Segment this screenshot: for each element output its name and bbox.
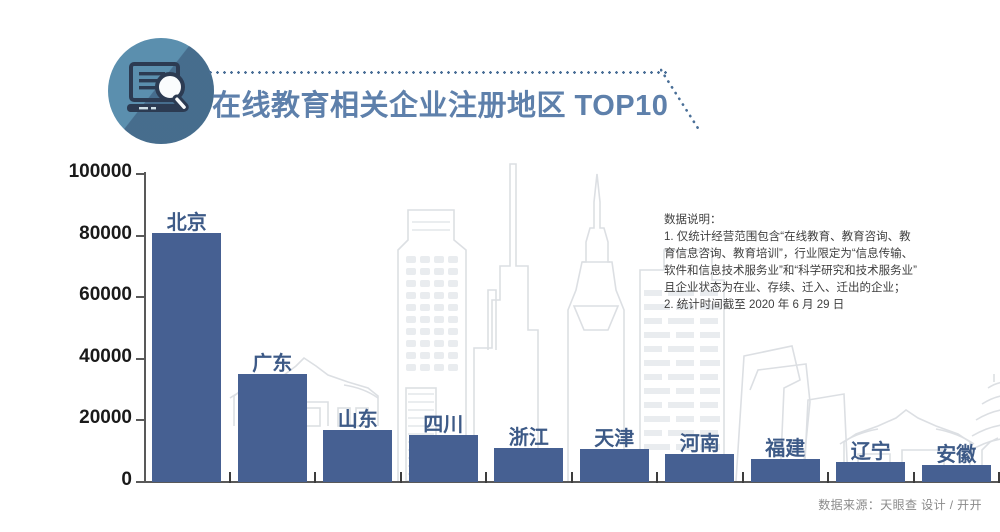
bar-label-广东: 广东 [222,347,322,376]
bar-label-北京: 北京 [137,206,237,235]
logo-badge [108,38,214,144]
y-axis-tick-label: 20000 [46,407,132,429]
y-axis-tick-label: 0 [46,469,132,491]
y-axis-labels: 020000400006000080000100000 [42,150,132,485]
y-axis-tick-label: 100000 [46,161,132,183]
bar-安徽[interactable] [922,465,991,482]
chart-plot-area: 020000400006000080000100000 北京广东山东四川浙江天津… [0,150,1000,495]
source-credit: 数据来源：天眼查 设计 / 开开 [818,496,982,513]
data-note-heading: 数据说明： [664,212,982,229]
chart-header: 在线教育相关企业注册地区 TOP10 [0,0,1000,150]
bar-北京[interactable] [152,233,221,482]
bar-series: 北京广东山东四川浙江天津河南福建辽宁安徽 [144,150,1000,482]
bar-河南[interactable] [665,454,734,482]
data-note-line: 2. 统计时间截至 2020 年 6 月 29 日 [664,297,982,314]
laptop-search-icon [127,62,197,120]
y-axis-tick-label: 60000 [46,284,132,306]
bar-山东[interactable] [323,430,392,482]
bar-浙江[interactable] [494,448,563,482]
page-title: 在线教育相关企业注册地区 TOP10 [212,82,668,124]
bar-辽宁[interactable] [836,462,905,482]
title-dotted-connector [207,71,669,74]
y-axis-tick-label: 80000 [46,223,132,245]
bar-福建[interactable] [751,459,820,482]
data-note: 数据说明： 1. 仅统计经营范围包含“在线教育、教育咨询、教 育信息咨询、教育培… [664,212,982,314]
y-axis-tick-label: 40000 [46,346,132,368]
bar-label-安徽: 安徽 [906,438,1000,467]
data-note-line: 育信息咨询、教育培训”，行业限定为“信息传输、 [664,246,982,263]
data-note-line: 1. 仅统计经营范围包含“在线教育、教育咨询、教 [664,229,982,246]
bar-广东[interactable] [238,374,307,482]
bar-四川[interactable] [409,435,478,482]
data-note-line: 且企业状态为在业、存续、迁入、迁出的企业； [664,280,982,297]
data-note-line: 软件和信息技术服务业”和“科学研究和技术服务业” [664,263,982,280]
bar-天津[interactable] [580,449,649,482]
